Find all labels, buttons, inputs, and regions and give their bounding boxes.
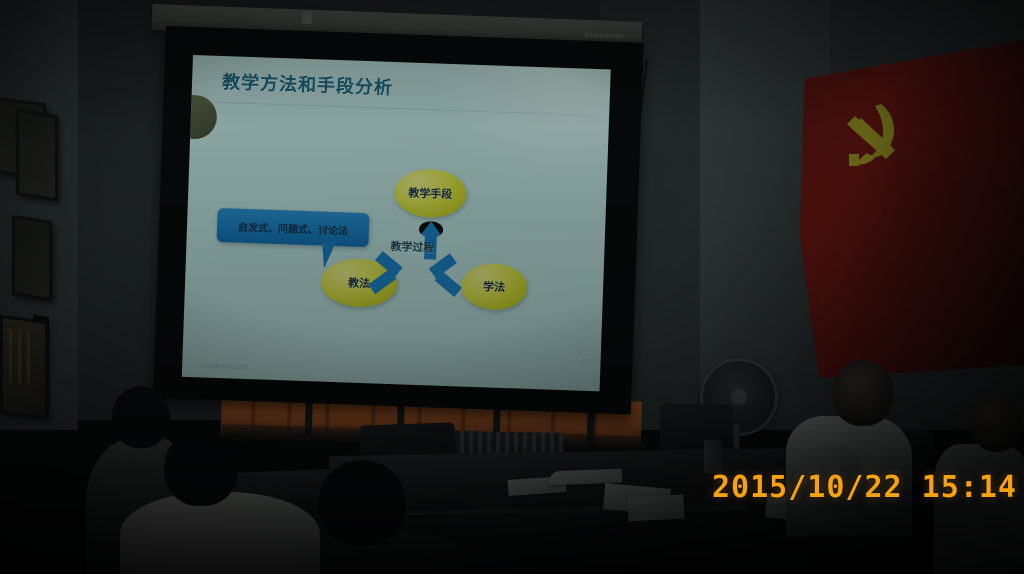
housing-brand-label: Romanhome — [585, 33, 624, 40]
slide-date-footer: 2015年10月22日 — [200, 360, 248, 371]
person-front-left-head — [112, 386, 170, 448]
water-bottle — [704, 440, 722, 474]
presentation-slide: 教学方法和手段分析 教学手段 教法 学法 启发式、问题式、讨论法 教学过程 20… — [182, 55, 611, 391]
diagram-center-label: 教学过程 — [390, 238, 435, 256]
person-right-head — [832, 360, 894, 426]
person-far-right-torso — [934, 444, 1024, 574]
person-far-right-head — [972, 396, 1022, 452]
slide-page-number: 10 — [582, 359, 589, 365]
person-front-center-head — [318, 460, 406, 546]
callout-tail — [322, 241, 338, 268]
projection-screen: 教学方法和手段分析 教学手段 教法 学法 启发式、问题式、讨论法 教学过程 20… — [153, 26, 644, 414]
housing-bracket — [302, 11, 313, 24]
communist-party-flag — [795, 38, 1024, 378]
diagram-callout-bubble: 启发式、问题式、讨论法 — [216, 208, 369, 247]
certificate-text-lines — [9, 329, 35, 387]
photograph-scene: Romanhome 教学方法和手段分析 教学手段 教法 学法 启发式、问题式、讨… — [0, 0, 1024, 574]
person-front-center-left-torso — [120, 492, 320, 574]
camera-timestamp: 2015/10/22 15:14 — [712, 470, 1017, 505]
flag-shading — [795, 38, 1024, 378]
diagram-node-top: 教学手段 — [394, 168, 468, 218]
fan-hub — [731, 389, 747, 405]
diagram-node-right: 学法 — [460, 262, 528, 310]
slide-title: 教学方法和手段分析 — [222, 68, 394, 100]
wall-plaque — [12, 215, 52, 301]
document-paper — [627, 495, 684, 522]
slide-title-rule — [207, 101, 597, 116]
wall-certificate — [0, 315, 48, 420]
wall-plaque — [16, 109, 58, 202]
person-front-center-left-head — [164, 430, 238, 506]
